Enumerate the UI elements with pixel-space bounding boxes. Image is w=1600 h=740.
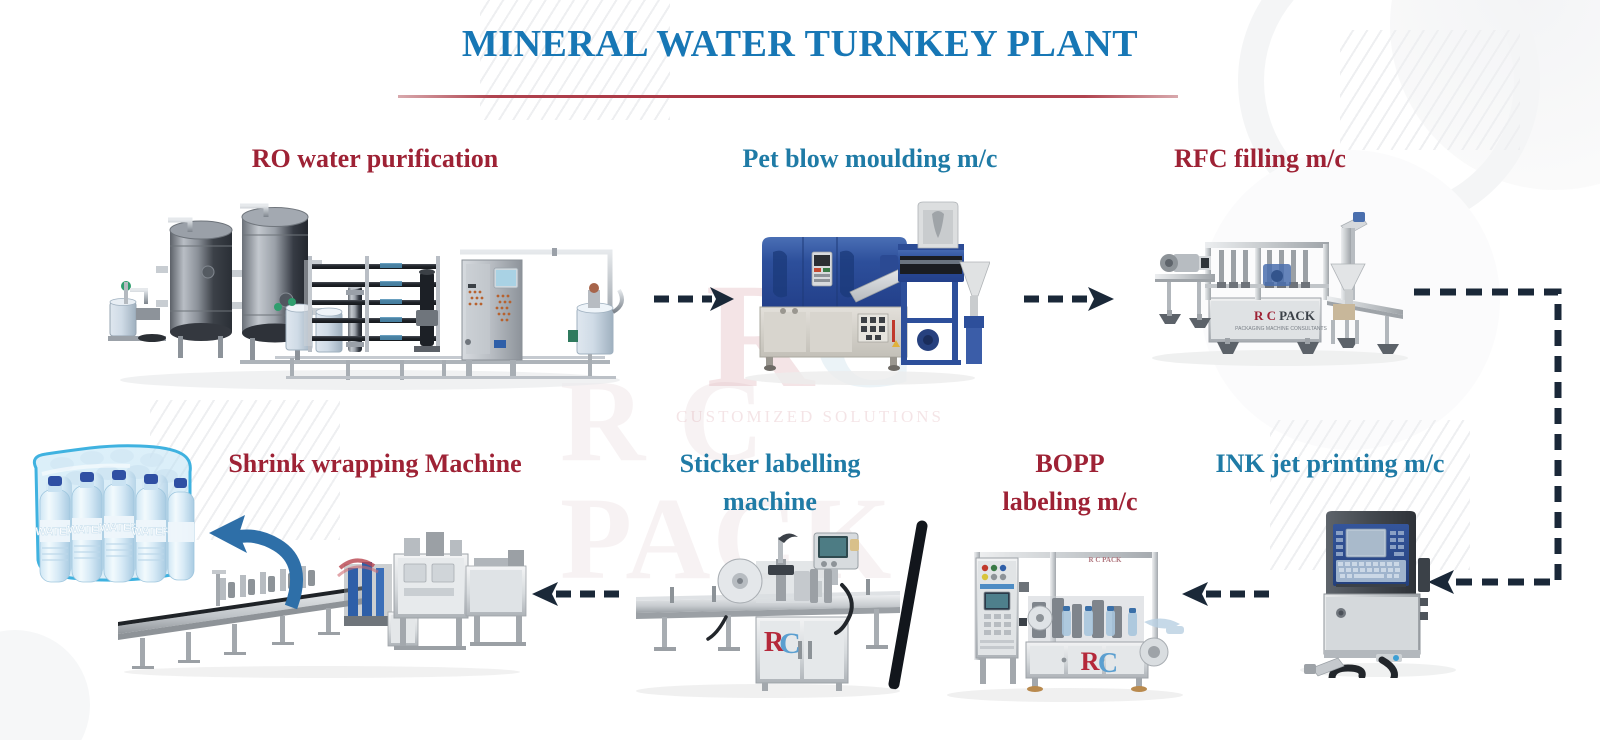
label-sticker-labelling: Sticker labelling machine bbox=[640, 445, 900, 520]
page-title: MINERAL WATER TURNKEY PLANT bbox=[0, 22, 1600, 66]
arrow-ro-to-blow bbox=[650, 283, 740, 315]
arrow-sticker-to-shrink bbox=[528, 578, 623, 610]
svg-text:R C PACK: R C PACK bbox=[1089, 556, 1122, 564]
label-bopp-labeling: BOPP labeling m/c bbox=[960, 445, 1180, 520]
label-shrink-wrapping: Shrink wrapping Machine bbox=[180, 445, 570, 483]
label-sticker-line2: machine bbox=[640, 483, 900, 521]
machine-rfc-filling: R C PACK PACKAGING MACHINE CONSULTANTS bbox=[1145, 198, 1415, 370]
svg-text:PACK: PACK bbox=[1279, 308, 1316, 323]
machine-sticker-labelling: R C bbox=[628, 525, 908, 700]
svg-text:R C: R C bbox=[1254, 308, 1276, 323]
label-rfc-filling: RFC filling m/c bbox=[1110, 140, 1410, 178]
arrow-shrink-to-pack bbox=[195, 503, 305, 613]
machine-ink-jet-printing bbox=[1278, 498, 1478, 678]
title-divider bbox=[398, 95, 1178, 98]
bg-circle-3 bbox=[0, 630, 90, 740]
machine-ro-water-purification bbox=[90, 190, 650, 395]
label-ro-water-purification: RO water purification bbox=[180, 140, 570, 178]
product-bottle-pack: WATER WATER WATER WATER bbox=[22, 424, 200, 600]
label-bopp-line2: labeling m/c bbox=[960, 483, 1180, 521]
svg-text:C: C bbox=[779, 627, 801, 660]
arrow-blow-to-filling bbox=[1020, 283, 1120, 315]
label-pet-blow-moulding: Pet blow moulding m/c bbox=[680, 140, 1060, 178]
svg-text:C: C bbox=[1098, 648, 1118, 679]
machine-pet-blow-moulding bbox=[740, 200, 990, 390]
svg-text:R: R bbox=[1081, 647, 1100, 676]
svg-text:WATER: WATER bbox=[132, 526, 171, 538]
arrow-inkjet-to-bopp bbox=[1178, 578, 1273, 610]
label-bopp-line1: BOPP bbox=[960, 445, 1180, 483]
machine-bopp-labeling: R C PACK bbox=[940, 530, 1190, 705]
svg-text:PACKAGING MACHINE CONSULTANTS: PACKAGING MACHINE CONSULTANTS bbox=[1235, 326, 1327, 332]
label-sticker-line1: Sticker labelling bbox=[640, 445, 900, 483]
